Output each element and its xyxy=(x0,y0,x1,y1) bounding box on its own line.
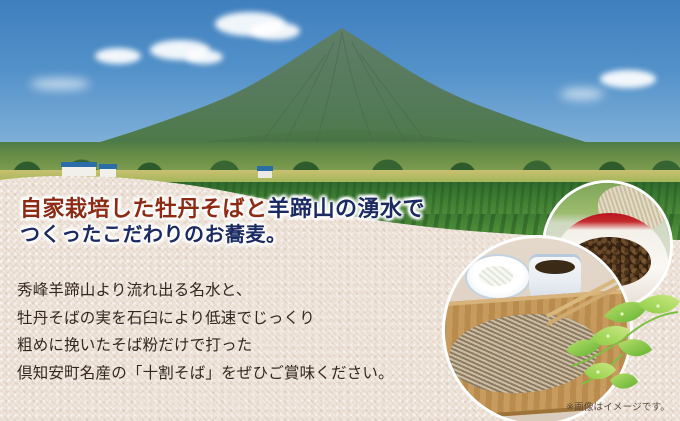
image-disclaimer: ※画像はイメージです。 xyxy=(566,399,670,413)
body-line: 粗めに挽いたそば粉だけで打った xyxy=(17,332,477,360)
condiment-bowl xyxy=(467,256,529,298)
body-line: 牡丹そばの実を石臼により低速でじっくり xyxy=(17,305,477,333)
promo-banner: 自家栽培した牡丹そばと羊蹄山の湧水で つくったこだわりのお蕎麦。 秀峰羊蹄山より… xyxy=(0,0,680,421)
body-line: 倶知安町名産の「十割そば」をぜひご賞味ください。 xyxy=(17,360,477,388)
roof xyxy=(61,162,97,167)
body-line: 秀峰羊蹄山より流れ出る名水と、 xyxy=(17,277,477,305)
headline: 自家栽培した牡丹そばと羊蹄山の湧水で つくったこだわりのお蕎麦。 xyxy=(20,196,490,247)
headline-part-navy: 羊蹄山の湧水で xyxy=(268,196,426,221)
roof xyxy=(99,164,117,169)
roof xyxy=(257,166,273,171)
farm-building xyxy=(100,168,116,177)
headline-part-red: 自家栽培した牡丹そばと xyxy=(20,196,268,221)
headline-line-2: つくったこだわりのお蕎麦。 xyxy=(20,223,490,247)
farm-building xyxy=(62,166,96,176)
green-leaf-vine-decoration xyxy=(560,288,680,398)
headline-line-1: 自家栽培した牡丹そばと羊蹄山の湧水で xyxy=(20,196,490,223)
farm-building xyxy=(258,170,272,178)
body-copy: 秀峰羊蹄山より流れ出る名水と、 牡丹そばの実を石臼により低速でじっくり 粗めに挽… xyxy=(17,277,477,387)
